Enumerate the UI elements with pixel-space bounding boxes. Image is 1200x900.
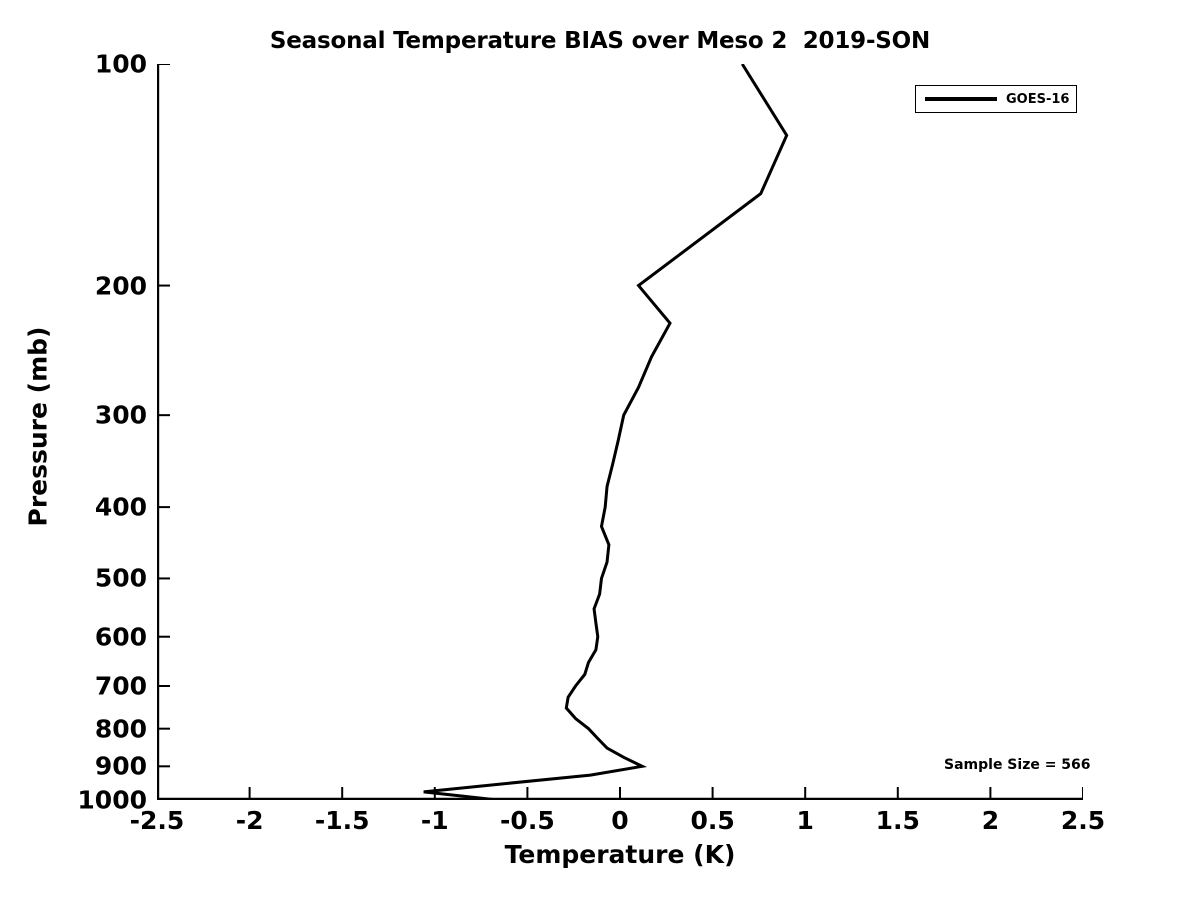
x-axis-tick-labels: -2.5-2-1.5-1-0.500.511.522.5 xyxy=(0,806,1200,842)
x-tick-label-8: 1.5 xyxy=(876,806,920,835)
x-tick-label-10: 2.5 xyxy=(1061,806,1105,835)
x-tick-label-7: 1 xyxy=(796,806,813,835)
sample-size-annotation: Sample Size = 566 xyxy=(944,757,1091,773)
plot-canvas xyxy=(157,64,1083,800)
x-tick-label-4: -0.5 xyxy=(500,806,555,835)
y-tick-label-4: 500 xyxy=(95,564,157,593)
y-tick-label-0: 100 xyxy=(95,50,157,79)
x-tick-label-6: 0.5 xyxy=(690,806,734,835)
x-tick-label-0: -2.5 xyxy=(130,806,185,835)
y-tick-label-2: 300 xyxy=(95,401,157,430)
series-line-goes-16 xyxy=(424,64,787,800)
x-tick-label-9: 2 xyxy=(982,806,999,835)
x-tick-label-5: 0 xyxy=(611,806,628,835)
y-tick-label-6: 700 xyxy=(95,671,157,700)
y-tick-label-8: 900 xyxy=(95,752,157,781)
y-tick-label-7: 800 xyxy=(95,714,157,743)
chart-figure: Seasonal Temperature BIAS over Meso 2 20… xyxy=(0,0,1200,900)
y-tick-label-3: 400 xyxy=(95,493,157,522)
x-tick-label-1: -2 xyxy=(236,806,264,835)
x-tick-label-2: -1.5 xyxy=(315,806,370,835)
chart-title: Seasonal Temperature BIAS over Meso 2 20… xyxy=(0,28,1200,54)
data-series-group xyxy=(424,64,787,800)
y-tick-label-5: 600 xyxy=(95,622,157,651)
y-axis-tick-labels: 1002003004005006007008009001000 xyxy=(0,0,157,900)
legend[interactable]: GOES-16 xyxy=(915,85,1077,113)
legend-line-swatch xyxy=(925,97,997,101)
y-tick-label-1: 200 xyxy=(95,271,157,300)
x-tick-label-3: -1 xyxy=(421,806,449,835)
plot-area xyxy=(157,64,1083,800)
legend-label-goes-16: GOES-16 xyxy=(1006,92,1069,107)
x-axis-label: Temperature (K) xyxy=(157,840,1083,869)
